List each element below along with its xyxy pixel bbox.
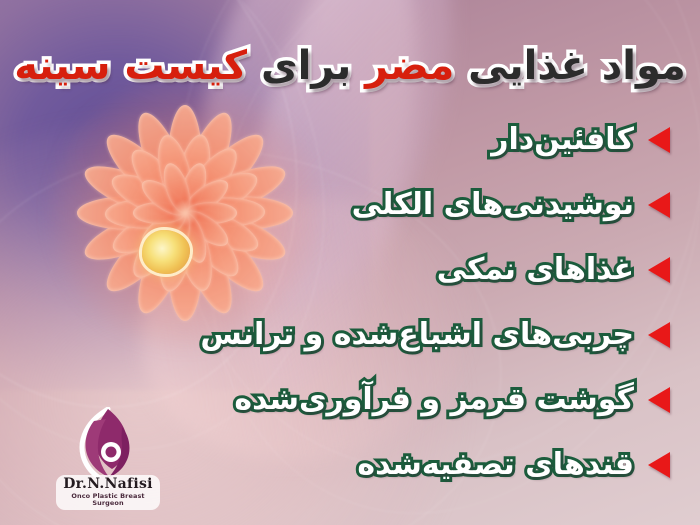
triangle-left-icon bbox=[648, 192, 670, 218]
logo-text-plate: Dr.N.Nafisi Onco Plastic Breast Surgeon bbox=[56, 475, 160, 510]
list-item-label: چربی‌های اشباع‌شده و ترانس bbox=[200, 316, 634, 354]
logo-doctor-name: Dr.N.Nafisi bbox=[58, 477, 158, 492]
list-item-label: غذاهای نمکی bbox=[437, 251, 634, 289]
title-segment-4: کیست سینه bbox=[14, 43, 247, 89]
list-item-label: قندهای تصفیه‌شده bbox=[357, 446, 634, 484]
list-item-label: نوشیدنی‌های الکلی bbox=[352, 186, 634, 224]
list-item[interactable]: چربی‌های اشباع‌شده و ترانس bbox=[0, 308, 700, 362]
triangle-left-icon bbox=[648, 387, 670, 413]
triangle-left-icon bbox=[648, 127, 670, 153]
logo-specialty: Onco Plastic Breast Surgeon bbox=[58, 493, 158, 507]
list-item-label: کافئین‌دار bbox=[491, 121, 634, 159]
list-item[interactable]: نوشیدنی‌های الکلی bbox=[0, 178, 700, 232]
title-segment-1: مواد غذایی bbox=[468, 43, 686, 89]
triangle-left-icon bbox=[648, 452, 670, 478]
title-segment-3: برای bbox=[261, 43, 351, 89]
title-segment-2: مضر bbox=[365, 43, 454, 89]
triangle-left-icon bbox=[648, 322, 670, 348]
poster: مواد غذایی مضر برای کیست سینه کافئین‌دار… bbox=[0, 0, 700, 525]
clinic-logo[interactable]: Dr.N.Nafisi Onco Plastic Breast Surgeon bbox=[52, 407, 164, 515]
list-item[interactable]: کافئین‌دار bbox=[0, 113, 700, 167]
page-title: مواد غذایی مضر برای کیست سینه bbox=[0, 45, 700, 88]
triangle-left-icon bbox=[648, 257, 670, 283]
list-item-label: گوشت قرمز و فرآوری‌شده bbox=[234, 381, 634, 419]
breast-flame-logo-icon bbox=[52, 407, 164, 481]
list-item[interactable]: غذاهای نمکی bbox=[0, 243, 700, 297]
